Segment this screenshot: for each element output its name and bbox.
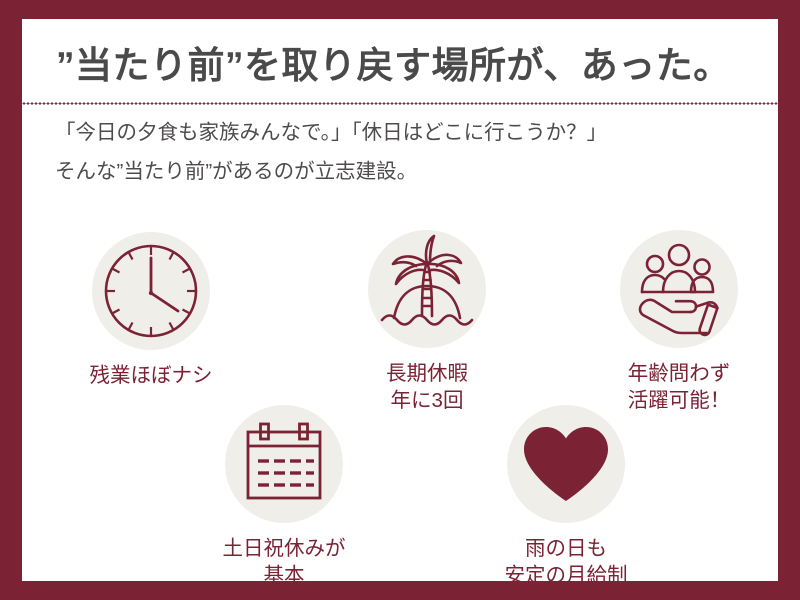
feature-label-line-1: 長期休暇	[317, 360, 537, 387]
clock-icon	[92, 232, 210, 350]
feature-label-line-1: 残業ほぼナシ	[41, 362, 261, 389]
palm-tree-island-icon	[368, 230, 486, 348]
feature-monthly-salary: 雨の日も 安定の月給制	[456, 405, 676, 589]
page-title: ”当たり前”を取り戻す場所が、あった。	[56, 30, 746, 100]
subtitle-line-1: 「今日の夕食も家族みんなで。」「休日はどこに行こうか？」	[55, 113, 755, 152]
feature-label-line-2: 安定の月給制	[456, 562, 676, 589]
feature-label-line-2: 基本	[174, 562, 394, 589]
icon-circle	[92, 232, 210, 350]
people-on-hand-icon	[620, 230, 738, 348]
calendar-icon	[225, 405, 343, 523]
feature-label-line-1: 年齢問わず	[569, 360, 789, 387]
subtitle-block: 「今日の夕食も家族みんなで。」「休日はどこに行こうか？」 そんな”当たり前”があ…	[55, 113, 755, 191]
dotted-divider	[22, 102, 778, 105]
slide-canvas: ”当たり前”を取り戻す場所が、あった。 「今日の夕食も家族みんなで。」「休日はど…	[22, 19, 778, 581]
feature-label: 土日祝休みが 基本	[174, 535, 394, 589]
feature-label-line-1: 雨の日も	[456, 535, 676, 562]
feature-any-age: 年齢問わず 活躍可能！	[569, 230, 789, 414]
feature-label: 残業ほぼナシ	[41, 362, 261, 389]
slide-frame: ”当たり前”を取り戻す場所が、あった。 「今日の夕食も家族みんなで。」「休日はど…	[0, 0, 800, 600]
subtitle-line-2: そんな”当たり前”があるのが立志建設。	[55, 152, 755, 191]
feature-label: 雨の日も 安定の月給制	[456, 535, 676, 589]
icon-circle	[368, 230, 486, 348]
heart-icon	[507, 405, 625, 523]
icon-circle	[507, 405, 625, 523]
icon-circle	[225, 405, 343, 523]
feature-label-line-1: 土日祝休みが	[174, 535, 394, 562]
feature-long-vacation: 長期休暇 年に3回	[317, 230, 537, 414]
feature-overtime: 残業ほぼナシ	[41, 232, 261, 389]
icon-circle	[620, 230, 738, 348]
feature-weekend-holiday: 土日祝休みが 基本	[174, 405, 394, 589]
